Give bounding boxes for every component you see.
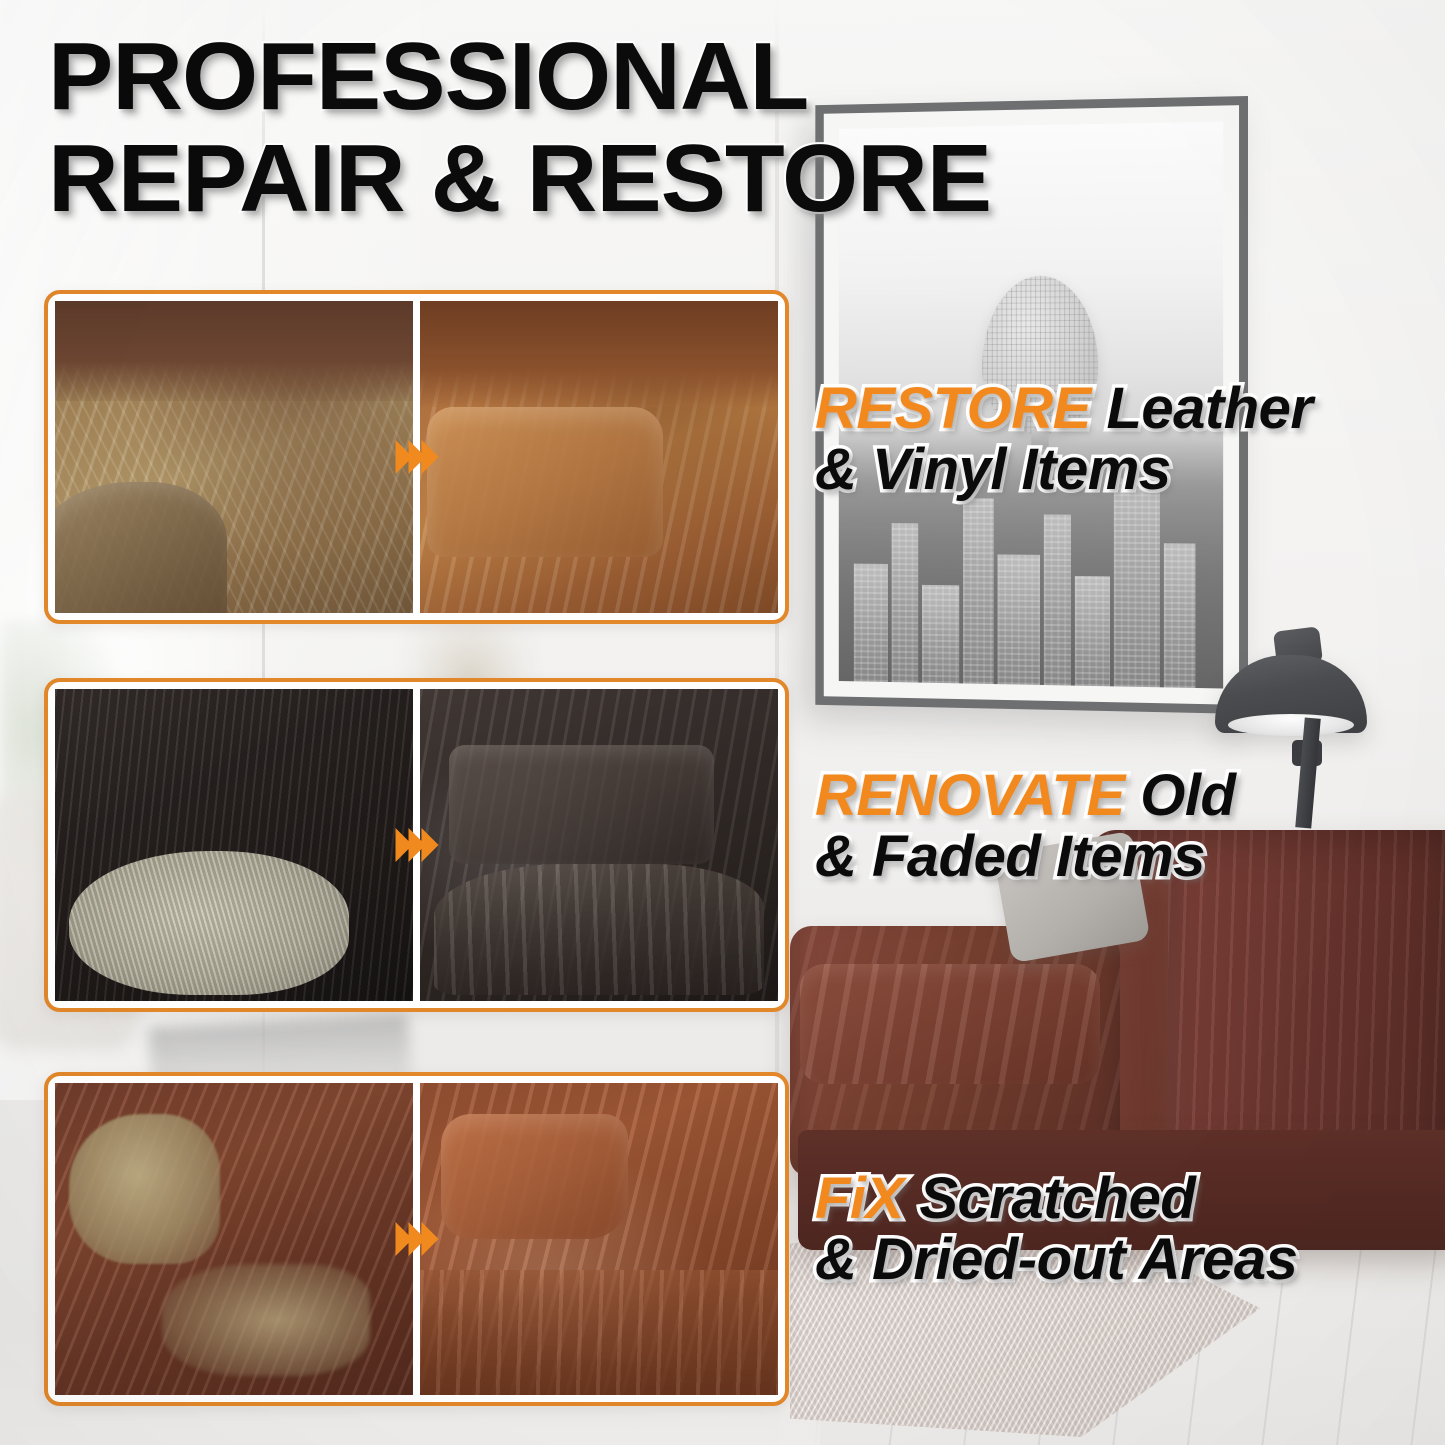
panel-inner bbox=[55, 301, 778, 613]
feature-caption-restore: RESTORE Leather & Vinyl Items bbox=[815, 378, 1445, 501]
building bbox=[998, 555, 1040, 685]
building bbox=[1164, 544, 1195, 688]
building bbox=[891, 523, 917, 683]
caption-keyword: FiX bbox=[815, 1166, 904, 1231]
caption-line-1: FiX Scratched bbox=[815, 1168, 1445, 1229]
lamp-bulb-glow bbox=[1228, 714, 1354, 736]
product-ad-canvas: PROFESSIONAL REPAIR & RESTORE bbox=[0, 0, 1445, 1445]
before-image-fix bbox=[55, 1083, 413, 1395]
after-image-fix bbox=[420, 1083, 778, 1395]
headline-line-2: REPAIR & RESTORE bbox=[48, 132, 1190, 226]
caption-keyword: RENOVATE bbox=[815, 763, 1125, 828]
building bbox=[1113, 478, 1160, 687]
building bbox=[963, 498, 994, 684]
sofa-cushion bbox=[800, 964, 1100, 1084]
before-after-panel-renovate bbox=[44, 678, 789, 1012]
panel-inner bbox=[55, 689, 778, 1001]
after-image-restore bbox=[420, 301, 778, 613]
caption-line-2: & Vinyl Items bbox=[815, 439, 1445, 500]
before-image-restore bbox=[55, 301, 413, 613]
building bbox=[1075, 576, 1110, 686]
caption-rest: Leather bbox=[1091, 376, 1313, 441]
feature-caption-renovate: RENOVATE Old & Faded Items bbox=[815, 765, 1445, 888]
caption-line-2: & Dried-out Areas bbox=[815, 1229, 1445, 1290]
building bbox=[1044, 514, 1071, 686]
headline-line-1: PROFESSIONAL bbox=[48, 30, 1190, 124]
building bbox=[922, 585, 960, 684]
caption-keyword: RESTORE bbox=[815, 376, 1091, 441]
before-after-panel-fix bbox=[44, 1072, 789, 1406]
before-image-renovate bbox=[55, 689, 413, 1001]
caption-rest: Scratched bbox=[904, 1166, 1196, 1231]
caption-line-1: RENOVATE Old bbox=[815, 765, 1445, 826]
panel-inner bbox=[55, 1083, 778, 1395]
caption-line-2: & Faded Items bbox=[815, 826, 1445, 887]
caption-line-1: RESTORE Leather bbox=[815, 378, 1445, 439]
page-title: PROFESSIONAL REPAIR & RESTORE bbox=[48, 30, 1168, 226]
caption-rest: Old bbox=[1125, 763, 1236, 828]
after-image-renovate bbox=[420, 689, 778, 1001]
feature-caption-fix: FiX Scratched & Dried-out Areas bbox=[815, 1168, 1445, 1291]
building bbox=[854, 563, 888, 682]
before-after-panel-restore bbox=[44, 290, 789, 624]
